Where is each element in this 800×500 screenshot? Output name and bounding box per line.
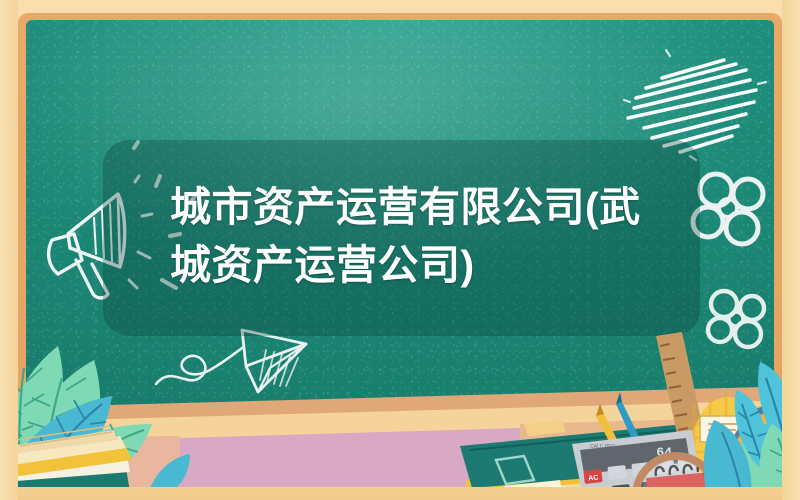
svg-text:AC: AC bbox=[588, 474, 599, 482]
frame-right-edge bbox=[782, 0, 800, 500]
frame-bottom-edge bbox=[0, 487, 800, 500]
frame-left-edge bbox=[0, 0, 18, 500]
desk-scene: 64 CALC PRO AC bbox=[0, 360, 800, 500]
svg-text:CALC PRO: CALC PRO bbox=[590, 444, 616, 450]
banner-image: 城市资产运营有限公司(武城资产运营公司) bbox=[0, 0, 800, 500]
page-title: 城市资产运营有限公司(武城资产运营公司) bbox=[170, 178, 670, 294]
